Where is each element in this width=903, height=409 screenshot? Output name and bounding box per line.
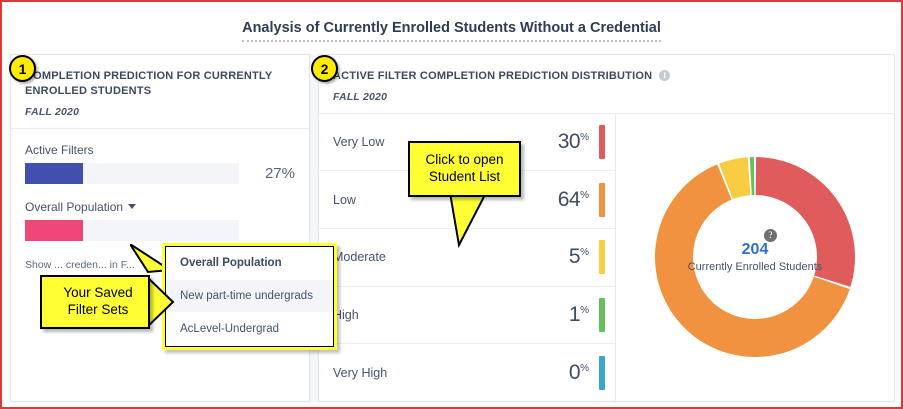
dropdown-item[interactable]: New part-time undergrads [166, 280, 333, 313]
help-icon[interactable]: ? [764, 229, 777, 242]
page-title: Analysis of Currently Enrolled Students … [2, 20, 901, 36]
distribution-row-color-swatch [599, 183, 605, 217]
distribution-row[interactable]: Very High0% [319, 344, 615, 401]
filter-sets-dropdown-highlight: Overall PopulationNew part-time undergra… [162, 243, 337, 350]
right-panel-heading: ACTIVE FILTER COMPLETION PREDICTION DIST… [333, 69, 880, 84]
active-filters-bar-fill [25, 163, 83, 184]
distribution-row-value: 5% [569, 245, 589, 269]
active-filters-percent: 27% [239, 165, 295, 182]
overall-population-dropdown-label[interactable]: Overall Population [25, 200, 295, 214]
overall-population-bar-row [25, 220, 295, 241]
dropdown-item[interactable]: AcLevel-Undergrad [166, 313, 333, 346]
left-panel-heading: COMPLETION PREDICTION FOR CURRENTLY ENRO… [25, 69, 295, 99]
donut-slice[interactable] [756, 157, 855, 287]
overall-population-label-text: Overall Population [25, 200, 123, 214]
distribution-row-number: 64 [558, 188, 580, 211]
annotation-badge-1: 1 [9, 55, 36, 82]
active-filters-bar-track [25, 163, 239, 184]
distribution-row-number: 5 [569, 245, 580, 268]
active-filters-label: Active Filters [25, 143, 295, 157]
distribution-row-color-swatch [599, 298, 605, 332]
distribution-row-label: Moderate [333, 250, 569, 264]
percent-sign: % [580, 247, 589, 258]
distribution-row-number: 0 [569, 361, 580, 384]
percent-sign: % [580, 190, 589, 201]
distribution-row-value: 30% [558, 130, 589, 154]
distribution-row[interactable]: High1% [319, 287, 615, 345]
right-panel-heading-text: ACTIVE FILTER COMPLETION PREDICTION DIST… [333, 70, 652, 82]
callout-your-saved-filter-sets: Your Saved Filter Sets [40, 275, 150, 329]
screenshot-root: Analysis of Currently Enrolled Students … [0, 0, 903, 409]
distribution-row-color-swatch [599, 125, 605, 159]
percent-sign: % [580, 363, 589, 374]
page-title-text: Analysis of Currently Enrolled Students … [242, 20, 661, 42]
callout-click-to-open: Click to open Student List [408, 141, 521, 197]
dropdown-item[interactable]: Overall Population [166, 247, 333, 280]
annotation-badge-2: 2 [311, 55, 338, 82]
distribution-row-label: Very High [333, 366, 569, 380]
active-filters-bar-row: 27% [25, 163, 295, 184]
right-panel-header: ACTIVE FILTER COMPLETION PREDICTION DIST… [319, 55, 894, 114]
percent-sign: % [580, 305, 589, 316]
filter-sets-dropdown[interactable]: Overall PopulationNew part-time undergra… [165, 246, 334, 347]
right-panel-body: Very Low30%Low64%Moderate5%High1%Very Hi… [319, 114, 894, 401]
distribution-row-color-swatch [599, 356, 605, 390]
distribution-row-number: 1 [569, 303, 580, 326]
distribution-row-number: 30 [558, 130, 580, 153]
left-panel-header: COMPLETION PREDICTION FOR CURRENTLY ENRO… [11, 55, 309, 129]
donut-chart-svg[interactable] [649, 151, 861, 363]
info-icon[interactable]: i [659, 70, 670, 81]
donut-slice[interactable] [750, 157, 755, 195]
overall-population-bar-fill [25, 220, 83, 241]
distribution-panel: ACTIVE FILTER COMPLETION PREDICTION DIST… [318, 54, 895, 402]
overall-population-bar-track [25, 220, 239, 241]
distribution-row-color-swatch [599, 240, 605, 274]
distribution-row-value: 64% [558, 188, 589, 212]
right-panel-subheading: FALL 2020 [333, 91, 880, 103]
distribution-row-value: 0% [569, 361, 589, 385]
distribution-row-value: 1% [569, 303, 589, 327]
callout-saved-arrow-head [145, 275, 179, 334]
left-panel-subheading: FALL 2020 [25, 106, 295, 118]
donut-chart-column: 204 Currently Enrolled Students ? [616, 114, 894, 401]
active-filters-label-text: Active Filters [25, 143, 94, 157]
chevron-down-icon[interactable] [128, 204, 136, 209]
distribution-row-label: High [333, 308, 569, 322]
donut-chart[interactable]: 204 Currently Enrolled Students ? [649, 151, 861, 363]
percent-sign: % [580, 132, 589, 143]
